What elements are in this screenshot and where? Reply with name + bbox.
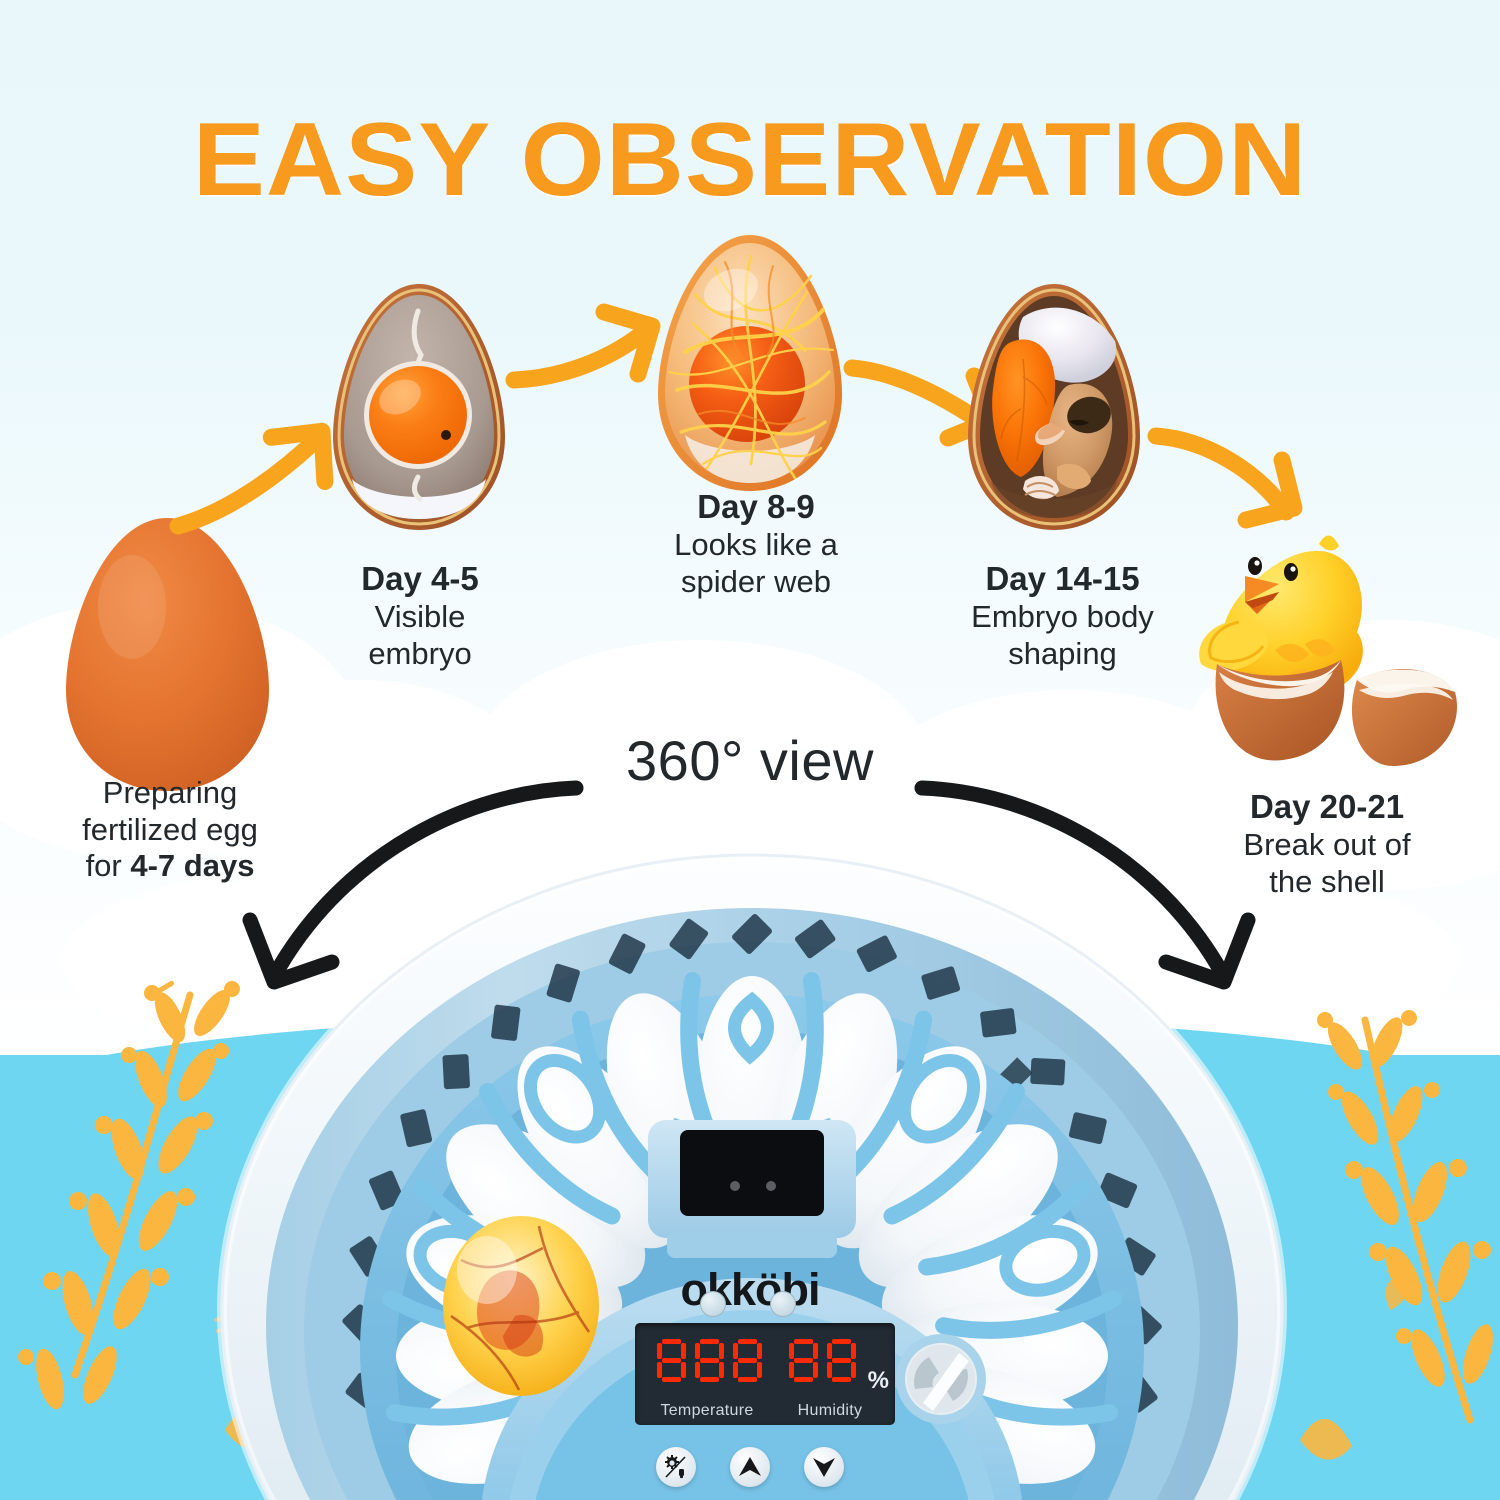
down-arrow-icon	[812, 1456, 836, 1478]
sensor-window	[680, 1130, 824, 1216]
stage-day-4-5-line2: embryo	[368, 636, 471, 671]
stage-day-14-15-caption: Day 14-15 Embryo body shaping	[930, 560, 1195, 672]
stage-day-8-9-line1: Looks like a	[674, 527, 838, 562]
wheat-right	[1270, 1010, 1500, 1490]
temperature-indicator-led	[700, 1291, 726, 1317]
temperature-label: Temperature	[643, 1402, 771, 1420]
settings-light-button[interactable]	[656, 1447, 696, 1487]
arrow-prep-to-day45	[168, 408, 343, 538]
stage-day-8-9-caption: Day 8-9 Looks like a spider web	[620, 488, 892, 600]
stage-day-4-5-day: Day 4-5	[300, 560, 540, 599]
display-panel: Temperature Humidity %	[635, 1323, 895, 1425]
seven-segment-digit	[655, 1337, 688, 1385]
decrease-button[interactable]	[804, 1447, 844, 1487]
stage-day-14-15-illustration	[965, 281, 1143, 533]
humidity-indicator-led	[770, 1291, 796, 1317]
temperature-digits	[655, 1337, 764, 1385]
vent-knob[interactable]	[893, 1331, 989, 1427]
seven-segment-digit	[731, 1337, 764, 1385]
stage-day-8-9-day: Day 8-9	[620, 488, 892, 527]
up-arrow-icon	[738, 1456, 762, 1478]
stage-day-14-15-line1: Embryo body	[971, 599, 1154, 634]
seven-segment-digit	[825, 1337, 858, 1385]
infographic-canvas: EASY OBSERVATION Preparing fertilized eg…	[0, 0, 1500, 1500]
seven-segment-digit	[787, 1337, 820, 1385]
seven-segment-digit	[693, 1337, 726, 1385]
stage-day-4-5-illustration	[330, 281, 508, 533]
stage-day-8-9-illustration	[655, 232, 845, 494]
arrow-day45-to-day89	[508, 300, 668, 410]
stage-prep-line3-prefix: for	[86, 848, 131, 883]
view-360-label: 360° view	[0, 728, 1500, 793]
stage-day-8-9-line2: spider web	[681, 564, 831, 599]
stage-day-4-5-caption: Day 4-5 Visible embryo	[300, 560, 540, 672]
brand-logo: okköbi	[0, 1264, 1500, 1316]
humidity-digits	[787, 1337, 858, 1385]
gear-light-icon	[663, 1454, 689, 1480]
humidity-label: Humidity	[775, 1402, 885, 1420]
stage-day-14-15-day: Day 14-15	[930, 560, 1195, 599]
stage-day-14-15-line2: shaping	[1008, 636, 1117, 671]
stage-day-4-5-line1: Visible	[375, 599, 466, 634]
percent-symbol: %	[868, 1367, 889, 1395]
page-title: EASY OBSERVATION	[0, 108, 1500, 212]
increase-button[interactable]	[730, 1447, 770, 1487]
